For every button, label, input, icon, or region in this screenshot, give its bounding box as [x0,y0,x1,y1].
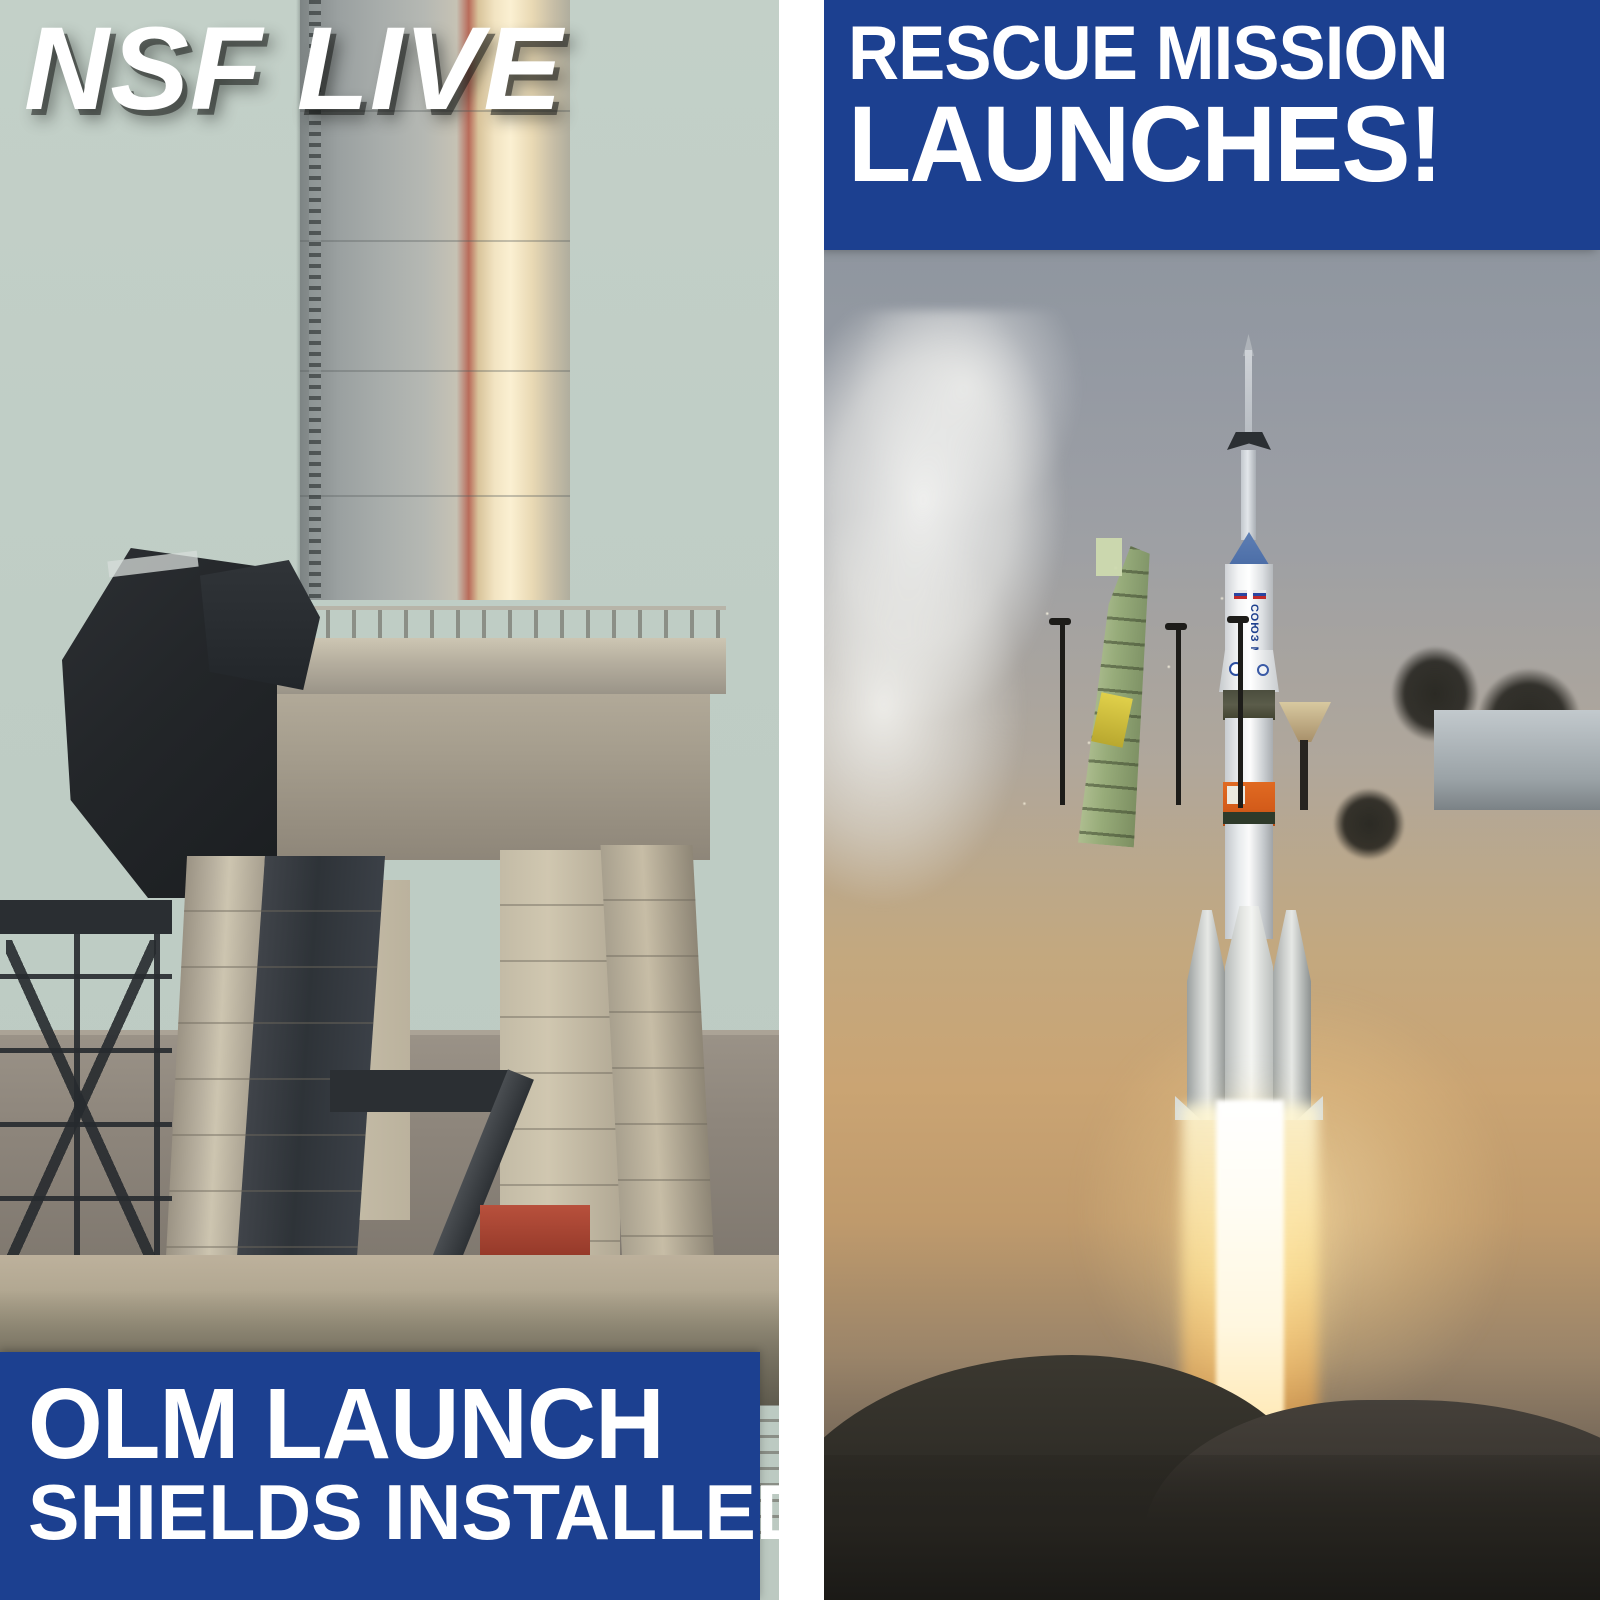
soyuz-launch-photo: СОЮЗ МС [824,250,1600,1600]
left-banner: OLM LAUNCH SHIELDS INSTALLED [0,1352,760,1600]
escape-tower-fins [1227,432,1271,450]
pad-lamp-post-2 [1176,625,1181,805]
tree-3 [1324,770,1414,860]
flame-deflector-post [1300,740,1308,810]
pad-lamp-head-1 [1049,618,1071,625]
service-tower-top [1096,538,1122,576]
left-banner-line2: SHIELDS INSTALLED [28,1475,733,1551]
pad-lamp-head-3 [1227,616,1249,623]
escape-tower-body [1241,450,1256,540]
escape-tower-mast [1245,350,1252,438]
left-banner-line1: OLM LAUNCH [28,1378,712,1471]
right-foreground [824,1455,1600,1600]
pad-lamp-post-3 [1238,618,1243,808]
right-panel: СОЮЗ МС [824,0,1600,1600]
right-header-line1: RESCUE MISSION [848,18,1536,91]
pad-lamp-head-2 [1165,623,1187,630]
crane-bridge [330,1070,510,1112]
nsf-live-title: NSF LIVE [24,10,563,128]
left-panel: NSF LIVE OLM LAUNCH SHIELDS INSTALLED [0,0,779,1600]
right-header-line2: LAUNCHES! [848,93,1558,196]
pad-building [1434,710,1600,810]
scaffold-top-platform [0,900,172,934]
right-header-banner: RESCUE MISSION LAUNCHES! [824,0,1600,250]
scaffold-bracing [6,940,156,1270]
thumbnail-poster: NSF LIVE OLM LAUNCH SHIELDS INSTALLED СО… [0,0,1600,1600]
pad-lamp-post-1 [1060,620,1065,805]
